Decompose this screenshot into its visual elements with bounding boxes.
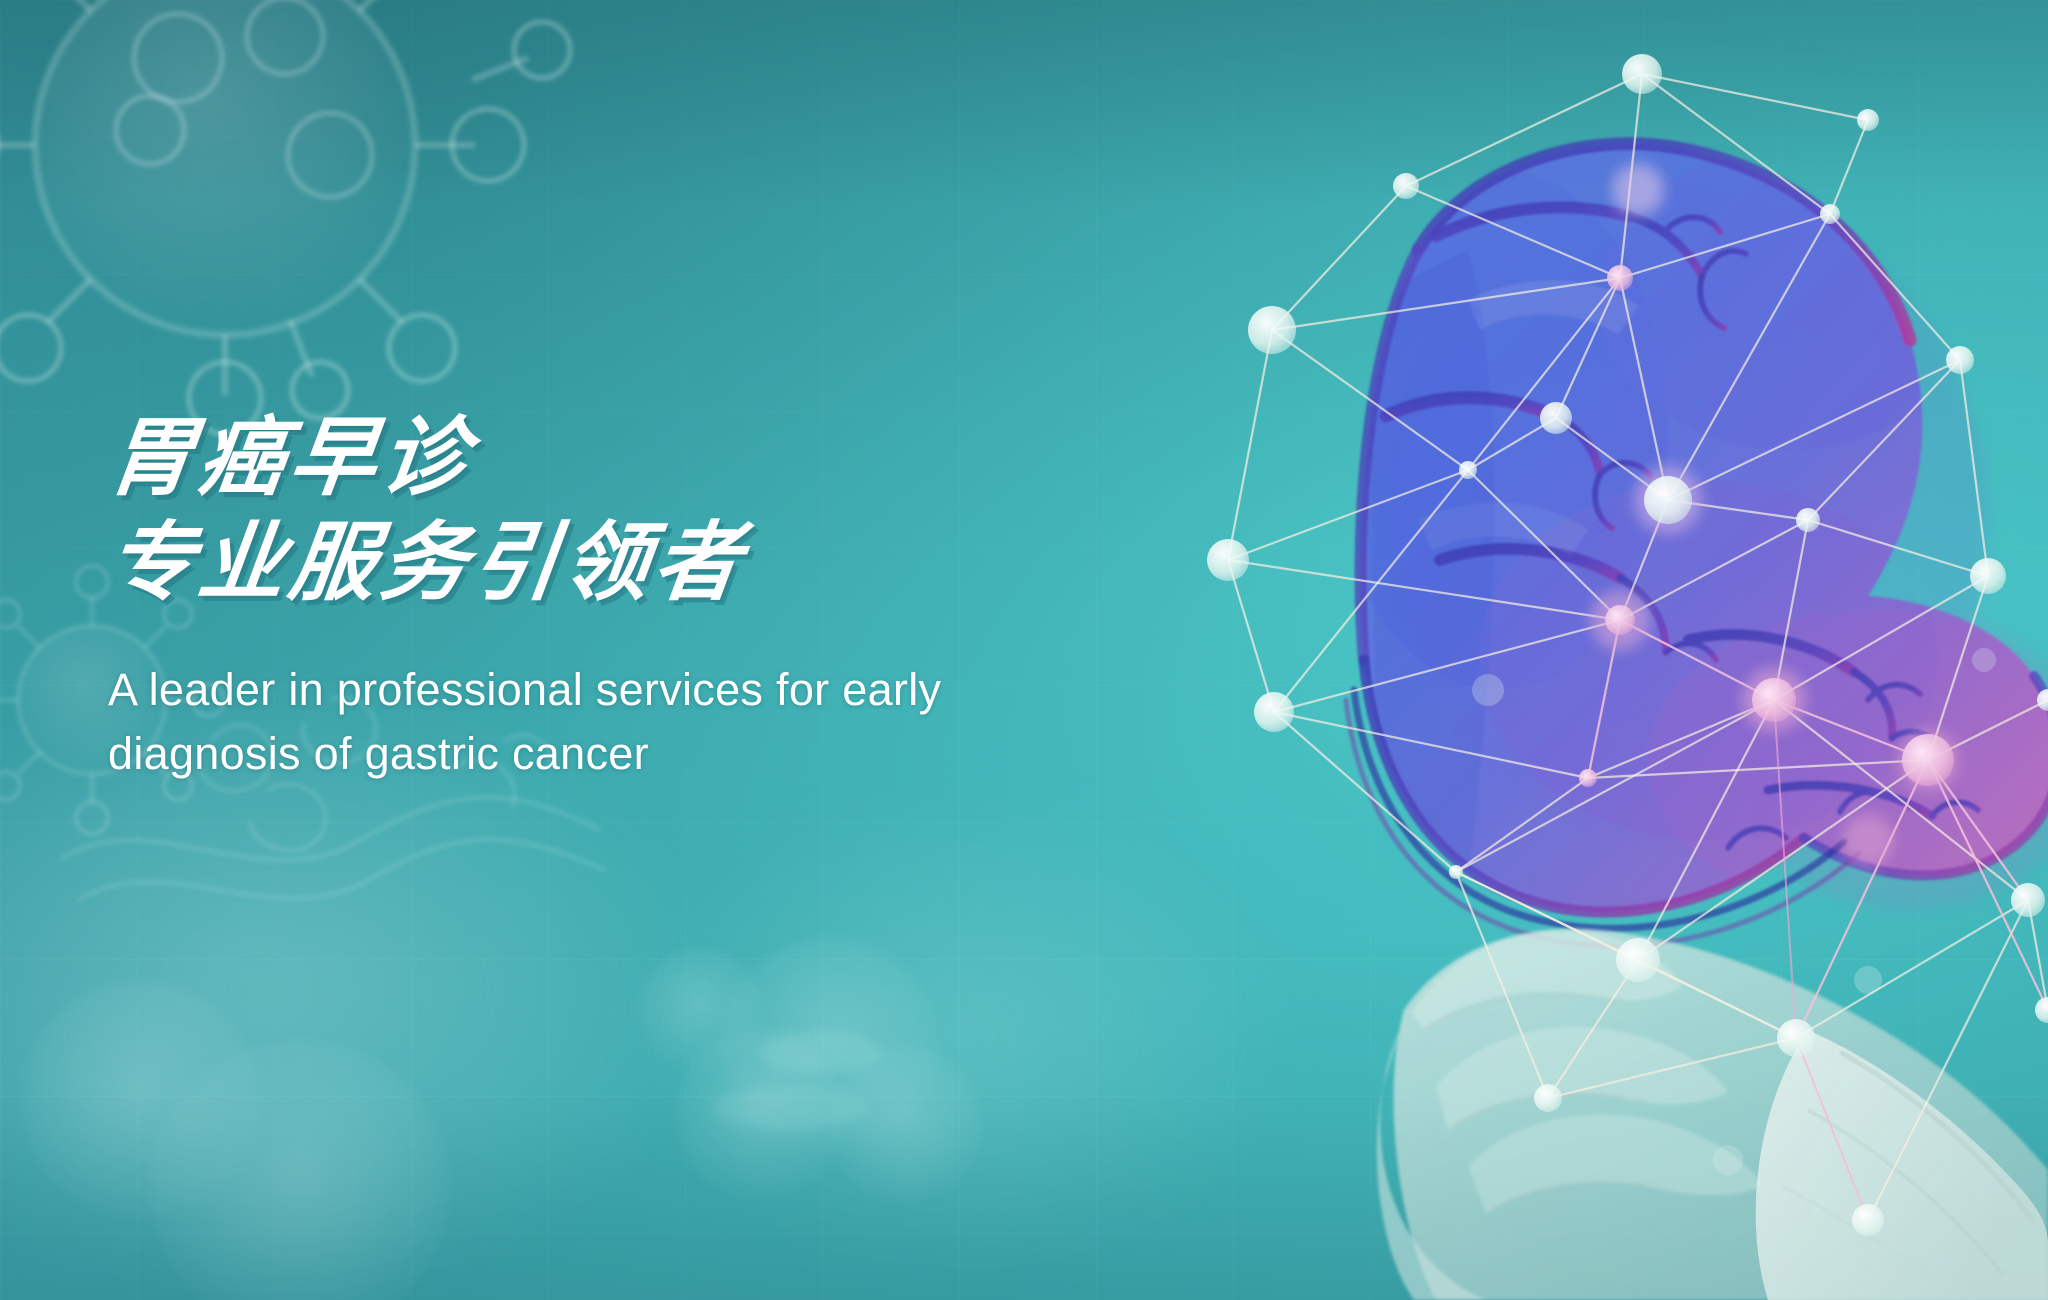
banner-root: 胃癌早诊 专业服务引领者 A leader in professional se…	[0, 0, 2048, 1300]
illustration-stomach-in-hand	[1168, 0, 2048, 1300]
virus-particle-top-left	[0, 0, 570, 434]
illustration-svg	[1168, 0, 2048, 1300]
subheadline-english-line-1: A leader in professional services for ea…	[108, 658, 1228, 722]
subheadline-english-line-2: diagnosis of gastric cancer	[108, 722, 1228, 786]
headline-chinese-line-2: 专业服务引领者	[102, 517, 1233, 610]
headline-chinese-line-1: 胃癌早诊	[102, 412, 1233, 505]
subheadline-block: A leader in professional services for ea…	[108, 658, 1228, 786]
headline-block: 胃癌早诊 专业服务引领者 A leader in professional se…	[108, 412, 1228, 786]
